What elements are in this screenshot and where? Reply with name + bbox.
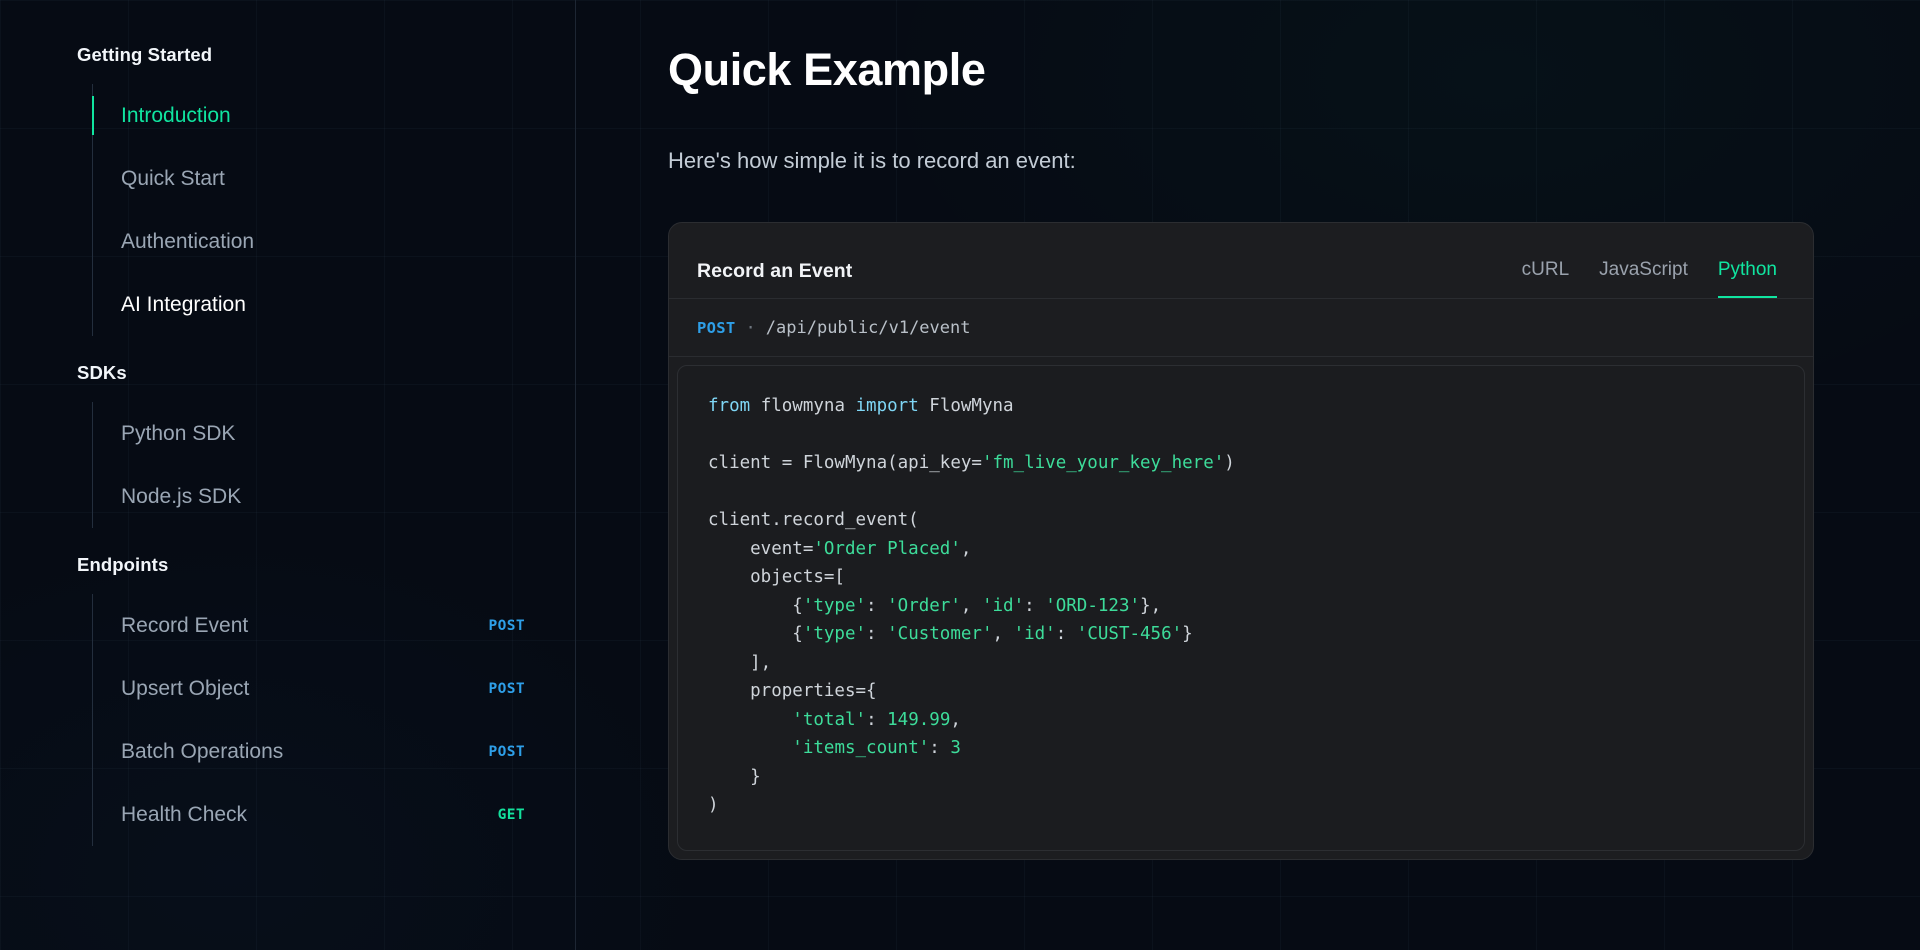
active-indicator-bar	[92, 669, 94, 708]
code-token-def: :	[866, 596, 887, 616]
sidebar-item-label: Health Check	[121, 803, 247, 827]
code-token-kw: from	[708, 396, 761, 416]
method-badge-get: GET	[498, 807, 525, 823]
endpoint-bar: POST · /api/public/v1/event	[669, 299, 1813, 357]
endpoint-path: /api/public/v1/event	[766, 318, 971, 338]
code-token-str: 'id'	[1014, 624, 1056, 644]
code-token-def: client = FlowMyna(api_key=	[708, 453, 982, 473]
code-snippet: from flowmyna import FlowMyna client = F…	[708, 392, 1774, 820]
code-token-str: 'total'	[792, 710, 866, 730]
code-token-str: 'fm_live_your_key_here'	[982, 453, 1224, 473]
code-token-def: :	[929, 738, 950, 758]
sidebar-item-label: Node.js SDK	[121, 485, 241, 509]
code-token-def: {	[708, 624, 803, 644]
active-indicator-bar	[92, 285, 94, 324]
active-indicator-bar	[92, 159, 94, 198]
code-token-def: flowmyna	[761, 396, 856, 416]
code-card-title: Record an Event	[697, 260, 852, 283]
code-token-def: )	[1224, 453, 1235, 473]
code-token-str: 'Order Placed'	[813, 539, 961, 559]
intro-paragraph: Here's how simple it is to record an eve…	[668, 148, 1864, 174]
nav-group-getting-started: Getting StartedIntroductionQuick StartAu…	[0, 44, 575, 336]
nav-group-endpoints: EndpointsRecord EventPOSTUpsert ObjectPO…	[0, 554, 575, 846]
nav-group-sdks: SDKsPython SDKNode.js SDK	[0, 362, 575, 528]
code-token-def: FlowMyna	[929, 396, 1013, 416]
code-token-def: ,	[992, 624, 1013, 644]
sidebar-item-upsert-object[interactable]: Upsert ObjectPOST	[93, 657, 575, 720]
code-token-def: ],	[708, 653, 771, 673]
code-token-def: ,	[961, 596, 982, 616]
code-token-str: 'CUST-456'	[1077, 624, 1182, 644]
sidebar-item-quick-start[interactable]: Quick Start	[93, 147, 575, 210]
code-token-def: )	[708, 795, 719, 815]
active-indicator-bar	[92, 96, 94, 135]
docs-sidebar: Getting StartedIntroductionQuick StartAu…	[0, 0, 576, 950]
code-token-def: }	[708, 767, 761, 787]
code-token-str: 'type'	[803, 596, 866, 616]
tab-python[interactable]: Python	[1718, 260, 1777, 298]
page-title: Quick Example	[668, 44, 1864, 96]
sidebar-item-authentication[interactable]: Authentication	[93, 210, 575, 273]
code-token-def: properties={	[708, 681, 877, 701]
tab-curl[interactable]: cURL	[1522, 260, 1570, 298]
code-token-str: 'Customer'	[887, 624, 992, 644]
code-token-num: 3	[950, 738, 961, 758]
code-token-str: 'type'	[803, 624, 866, 644]
code-token-str: 'items_count'	[792, 738, 929, 758]
code-token-num: 149.99	[887, 710, 950, 730]
nav-list: IntroductionQuick StartAuthenticationAI …	[92, 84, 575, 336]
sidebar-item-label: Quick Start	[121, 167, 225, 191]
nav-group-title: Endpoints	[0, 554, 575, 576]
method-badge-post: POST	[488, 618, 525, 634]
code-token-def: ,	[961, 539, 972, 559]
tab-javascript[interactable]: JavaScript	[1599, 260, 1688, 298]
code-token-str: 'id'	[982, 596, 1024, 616]
sidebar-item-ai-integration[interactable]: AI Integration	[93, 273, 575, 336]
code-token-def: ,	[950, 710, 961, 730]
code-block[interactable]: from flowmyna import FlowMyna client = F…	[677, 365, 1805, 851]
code-token-str: 'ORD-123'	[1045, 596, 1140, 616]
nav-list: Python SDKNode.js SDK	[92, 402, 575, 528]
code-token-def: objects=[	[708, 567, 845, 587]
method-badge-post: POST	[488, 744, 525, 760]
active-indicator-bar	[92, 606, 94, 645]
sidebar-item-python-sdk[interactable]: Python SDK	[93, 402, 575, 465]
sidebar-item-health-check[interactable]: Health CheckGET	[93, 783, 575, 846]
code-token-def: }	[1182, 624, 1193, 644]
sidebar-item-label: Record Event	[121, 614, 248, 638]
code-token-kw: import	[856, 396, 930, 416]
endpoint-separator: ·	[746, 318, 756, 338]
active-indicator-bar	[92, 414, 94, 453]
language-tabs: cURLJavaScriptPython	[1522, 245, 1777, 298]
nav-group-title: Getting Started	[0, 44, 575, 66]
active-indicator-bar	[92, 222, 94, 261]
main-content: Quick Example Here's how simple it is to…	[576, 0, 1920, 950]
endpoint-method-badge: POST	[697, 319, 736, 337]
method-badge-post: POST	[488, 681, 525, 697]
sidebar-item-record-event[interactable]: Record EventPOST	[93, 594, 575, 657]
active-indicator-bar	[92, 732, 94, 771]
sidebar-item-label: Batch Operations	[121, 740, 283, 764]
page-root: Getting StartedIntroductionQuick StartAu…	[0, 0, 1920, 950]
code-token-def: :	[1024, 596, 1045, 616]
sidebar-item-label: Python SDK	[121, 422, 235, 446]
sidebar-item-label: Upsert Object	[121, 677, 249, 701]
code-token-def: {	[708, 596, 803, 616]
code-token-def: event=	[708, 539, 813, 559]
code-card-header: Record an Event cURLJavaScriptPython	[669, 223, 1813, 299]
sidebar-item-node-js-sdk[interactable]: Node.js SDK	[93, 465, 575, 528]
code-token-def: :	[866, 710, 887, 730]
code-example-card: Record an Event cURLJavaScriptPython POS…	[668, 222, 1814, 860]
nav-list: Record EventPOSTUpsert ObjectPOSTBatch O…	[92, 594, 575, 846]
code-token-def	[708, 710, 792, 730]
active-indicator-bar	[92, 477, 94, 516]
sidebar-item-introduction[interactable]: Introduction	[93, 84, 575, 147]
code-token-def: :	[866, 624, 887, 644]
code-token-def	[708, 738, 792, 758]
sidebar-item-label: AI Integration	[121, 293, 246, 317]
code-token-def: },	[1140, 596, 1161, 616]
code-token-str: 'Order'	[887, 596, 961, 616]
sidebar-item-label: Authentication	[121, 230, 254, 254]
active-indicator-bar	[92, 795, 94, 834]
nav-group-title: SDKs	[0, 362, 575, 384]
sidebar-item-label: Introduction	[121, 104, 231, 128]
code-token-def: client.record_event(	[708, 510, 919, 530]
sidebar-item-batch-operations[interactable]: Batch OperationsPOST	[93, 720, 575, 783]
code-token-def: :	[1056, 624, 1077, 644]
